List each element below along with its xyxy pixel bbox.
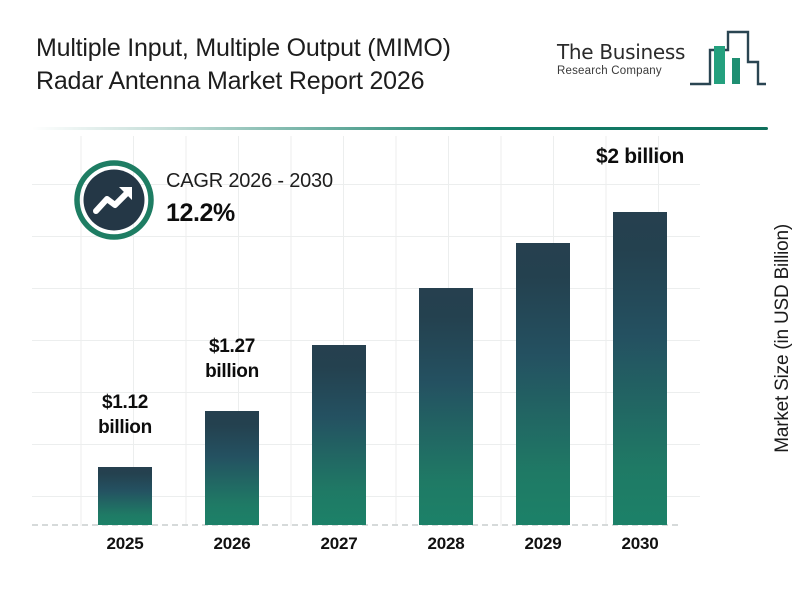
value-label-2030: $2 billion: [580, 144, 700, 169]
y-axis-title: Market Size (in USD Billion): [772, 224, 794, 453]
value-label-2025-line2: billion: [65, 415, 185, 440]
bar-series: $1.12 billion $1.27 billion $2 billion 2…: [0, 0, 800, 600]
value-label-2030-line1: $2 billion: [580, 144, 700, 169]
bar-2030: [613, 212, 667, 525]
value-label-2026: $1.27 billion: [172, 334, 292, 384]
x-label-2027: 2027: [279, 534, 399, 554]
cagr-badge-icon: [74, 160, 154, 240]
value-label-2026-line2: billion: [172, 359, 292, 384]
cagr-value-label: 12.2%: [166, 196, 333, 230]
bar-2026: [205, 411, 259, 525]
infographic-root: Multiple Input, Multiple Output (MIMO) R…: [0, 0, 800, 600]
bar-2029: [516, 243, 570, 525]
cagr-text-block: CAGR 2026 - 2030 12.2%: [166, 168, 333, 230]
bar-2027: [312, 345, 366, 525]
value-label-2026-line1: $1.27: [172, 334, 292, 359]
value-label-2025-line1: $1.12: [65, 390, 185, 415]
bar-2025: [98, 467, 152, 525]
bar-2028: [419, 288, 473, 525]
value-label-2025: $1.12 billion: [65, 390, 185, 440]
cagr-period-label: CAGR 2026 - 2030: [166, 168, 333, 194]
x-label-2030: 2030: [580, 534, 700, 554]
x-label-2025: 2025: [65, 534, 185, 554]
x-label-2026: 2026: [172, 534, 292, 554]
